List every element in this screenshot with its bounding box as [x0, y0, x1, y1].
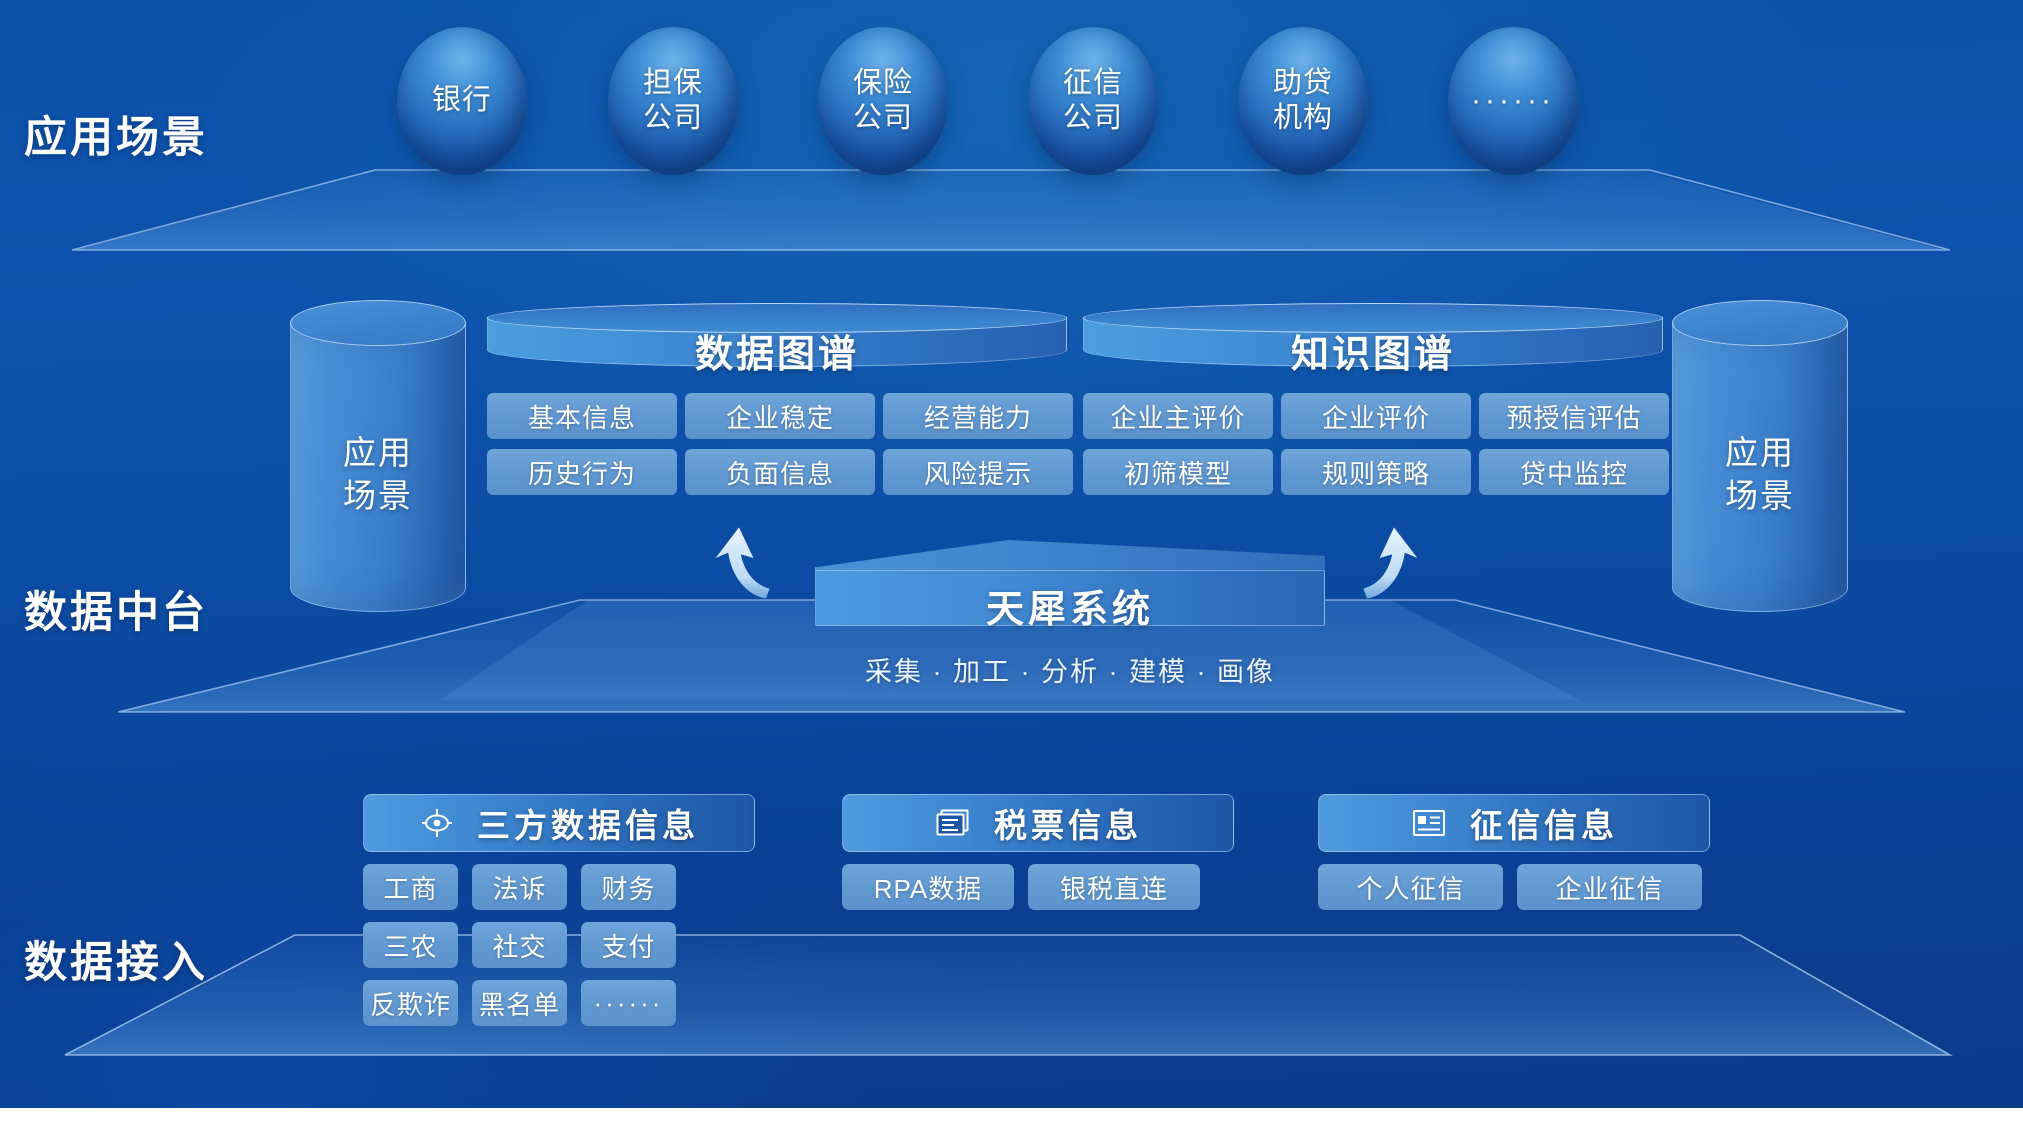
cylinder-left-label: 应用 场景	[290, 432, 466, 518]
cylinder-right-label: 应用 场景	[1672, 432, 1848, 518]
tianxi-system-banner[interactable]: 天犀系统 采集 · 加工 · 分析 · 建模 · 画像	[815, 540, 1325, 700]
platform-application-layer	[70, 170, 1950, 250]
disc-data-graph[interactable]: 数据图谱	[487, 303, 1067, 373]
chipgrid-knowledge-graph: 企业主评价 企业评价 预授信评估 初筛模型 规则策略 贷中监控	[1083, 393, 1663, 495]
arrow-up-right-icon	[1340, 522, 1430, 612]
chip-enterprise-stability[interactable]: 企业稳定	[685, 393, 875, 439]
dchip-industry-commerce[interactable]: 工商	[363, 864, 458, 910]
chip-enterprise-evaluation[interactable]: 企业评价	[1281, 393, 1471, 439]
dchip-finance[interactable]: 财务	[581, 864, 676, 910]
layer-title-data-access: 数据接入	[24, 928, 208, 990]
chip-in-loan-monitoring[interactable]: 贷中监控	[1479, 449, 1669, 495]
group-tax-invoice-row-1: RPA数据 银税直连	[842, 864, 1234, 910]
cylinder-left-application-scenario[interactable]: 应用 场景	[290, 300, 466, 630]
dchip-bank-tax-direct[interactable]: 银税直连	[1028, 864, 1200, 910]
chip-operating-capability[interactable]: 经营能力	[883, 393, 1073, 439]
group-third-party-row-1: 工商 法诉 财务	[363, 864, 755, 910]
tianxi-title: 天犀系统	[815, 578, 1325, 633]
group-tax-invoice-title: 税票信息	[994, 799, 1142, 847]
sphere-loan-facilitation-institution[interactable]: 助贷 机构	[1238, 27, 1368, 175]
invoice-icon	[934, 806, 972, 840]
chip-negative-info[interactable]: 负面信息	[685, 449, 875, 495]
sphere-credit-reporting-company[interactable]: 征信 公司	[1028, 27, 1158, 175]
target-crosshair-icon	[419, 805, 455, 841]
group-third-party-row-3: 反欺诈 黑名单 ······	[363, 980, 755, 1026]
sphere-ellipsis-label: ······	[1471, 83, 1555, 120]
dchip-enterprise-credit[interactable]: 企业征信	[1517, 864, 1702, 910]
disc-knowledge-graph[interactable]: 知识图谱	[1083, 303, 1663, 373]
disc-data-graph-title: 数据图谱	[487, 323, 1067, 378]
dchip-personal-credit[interactable]: 个人征信	[1318, 864, 1503, 910]
group-credit-report: 征信信息 个人征信 企业征信	[1318, 794, 1710, 910]
chip-pre-credit-assessment[interactable]: 预授信评估	[1479, 393, 1669, 439]
id-card-icon	[1410, 807, 1448, 839]
sphere-bank-label: 银行	[432, 83, 492, 118]
group-third-party-row-2: 三农 社交 支付	[363, 922, 755, 968]
chipgrid-data-graph: 基本信息 企业稳定 经营能力 历史行为 负面信息 风险提示	[487, 393, 1067, 495]
chip-prescreening-model[interactable]: 初筛模型	[1083, 449, 1273, 495]
dchip-more-ellipsis[interactable]: ······	[581, 980, 676, 1026]
sphere-bank[interactable]: 银行	[397, 27, 527, 175]
chip-owner-evaluation[interactable]: 企业主评价	[1083, 393, 1273, 439]
group-tax-invoice-header[interactable]: 税票信息	[842, 794, 1234, 852]
dchip-litigation[interactable]: 法诉	[472, 864, 567, 910]
diagram-canvas: 应用场景 数据中台 数据接入 银行 担保 公司 保险 公司 征信 公司 助贷 机…	[0, 0, 2023, 1130]
group-credit-report-title: 征信信息	[1470, 799, 1618, 847]
sphere-ellipsis[interactable]: ······	[1448, 27, 1578, 175]
sphere-insurance-company-label: 保险 公司	[853, 66, 913, 137]
sphere-credit-reporting-company-label: 征信 公司	[1063, 66, 1123, 137]
disc-knowledge-graph-title: 知识图谱	[1083, 323, 1663, 378]
dchip-social[interactable]: 社交	[472, 922, 567, 968]
dchip-blacklist[interactable]: 黑名单	[472, 980, 567, 1026]
sphere-guarantee-company-label: 担保 公司	[643, 66, 703, 137]
dchip-anti-fraud[interactable]: 反欺诈	[363, 980, 458, 1026]
cylinder-right-application-scenario[interactable]: 应用 场景	[1672, 300, 1848, 630]
chip-risk-alert[interactable]: 风险提示	[883, 449, 1073, 495]
layer-title-data-platform: 数据中台	[24, 578, 208, 640]
cylinder-right-top	[1672, 300, 1848, 346]
sphere-insurance-company[interactable]: 保险 公司	[818, 27, 948, 175]
sphere-loan-facilitation-label: 助贷 机构	[1273, 66, 1333, 137]
chip-rule-strategy[interactable]: 规则策略	[1281, 449, 1471, 495]
layer-title-application: 应用场景	[24, 103, 208, 165]
group-credit-report-header[interactable]: 征信信息	[1318, 794, 1710, 852]
group-tax-invoice: 税票信息 RPA数据 银税直连	[842, 794, 1234, 910]
group-credit-report-row-1: 个人征信 企业征信	[1318, 864, 1710, 910]
dchip-agriculture[interactable]: 三农	[363, 922, 458, 968]
dchip-rpa-data[interactable]: RPA数据	[842, 864, 1014, 910]
group-third-party-data: 三方数据信息 工商 法诉 财务 三农 社交 支付 反欺诈 黑名单 ······	[363, 794, 755, 1026]
chip-basic-info[interactable]: 基本信息	[487, 393, 677, 439]
group-third-party-header[interactable]: 三方数据信息	[363, 794, 755, 852]
sphere-guarantee-company[interactable]: 担保 公司	[608, 27, 738, 175]
group-third-party-title: 三方数据信息	[477, 799, 699, 847]
chip-historical-behavior[interactable]: 历史行为	[487, 449, 677, 495]
arrow-up-left-icon	[712, 522, 802, 612]
cylinder-left-top	[290, 300, 466, 346]
dchip-payment[interactable]: 支付	[581, 922, 676, 968]
tianxi-subtitle: 采集 · 加工 · 分析 · 建模 · 画像	[815, 650, 1325, 689]
